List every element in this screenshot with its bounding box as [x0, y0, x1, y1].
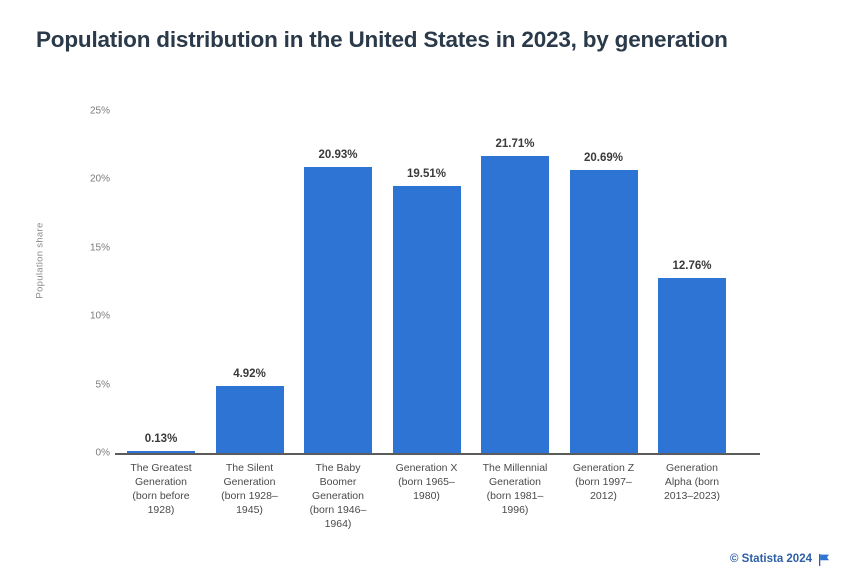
bar-value-label: 20.69% — [584, 152, 623, 164]
copyright-text: © Statista 2024 — [730, 553, 812, 565]
footer: © Statista 2024 — [730, 553, 830, 565]
bar-group[interactable]: 0.13% — [127, 0, 195, 453]
x-axis-category-label: The Greatest Generation (born before 192… — [115, 462, 207, 518]
x-axis-category-label: The Millennial Generation (born 1981– 19… — [469, 462, 561, 518]
bar[interactable] — [304, 167, 372, 453]
bar[interactable] — [481, 156, 549, 453]
bar-value-label: 20.93% — [318, 149, 357, 161]
bar-group[interactable]: 19.51% — [393, 0, 461, 453]
bar[interactable] — [570, 170, 638, 453]
x-axis-category-label: Generation Z (born 1997– 2012) — [558, 462, 650, 504]
bar-chart: Population share 25%20%15%10%5%0% 0.13%4… — [0, 0, 860, 545]
x-axis-line — [115, 453, 760, 455]
bar-value-label: 19.51% — [407, 168, 446, 180]
bar[interactable] — [216, 386, 284, 453]
x-axis-category-label: Generation X (born 1965– 1980) — [381, 462, 473, 504]
x-axis-category-label: The Silent Generation (born 1928– 1945) — [204, 462, 296, 518]
x-axis-category-label: The Baby Boomer Generation (born 1946– 1… — [292, 462, 384, 532]
bar-value-label: 12.76% — [672, 260, 711, 272]
bar-group[interactable]: 12.76% — [658, 0, 726, 453]
bar-group[interactable]: 4.92% — [216, 0, 284, 453]
bar[interactable] — [393, 186, 461, 453]
bar-value-label: 21.71% — [495, 138, 534, 150]
bar-group[interactable]: 21.71% — [481, 0, 549, 453]
bar-value-label: 0.13% — [145, 433, 178, 445]
statista-flag-icon — [818, 554, 830, 566]
bar-group[interactable]: 20.93% — [304, 0, 372, 453]
bar-group[interactable]: 20.69% — [570, 0, 638, 453]
bar-value-label: 4.92% — [233, 368, 266, 380]
bar[interactable] — [658, 278, 726, 453]
bars-layer: 0.13%4.92%20.93%19.51%21.71%20.69%12.76% — [0, 0, 860, 453]
x-axis-category-label: Generation Alpha (born 2013–2023) — [646, 462, 738, 504]
